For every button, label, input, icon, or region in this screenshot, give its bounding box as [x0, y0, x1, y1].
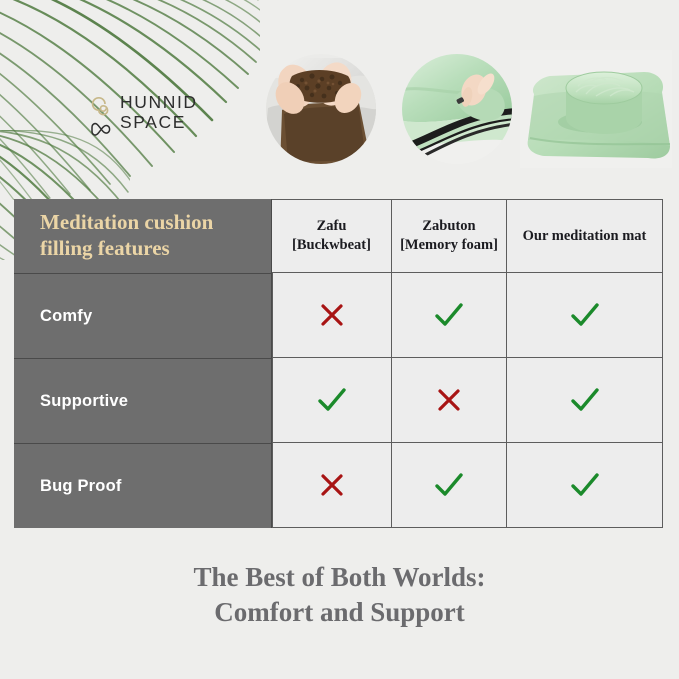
brand-logo: HUNNID SPACE [88, 93, 198, 138]
column-header-our-mat-line-1: Our meditation mat [523, 227, 647, 246]
row-label-supportive: Supportive [14, 358, 272, 443]
tagline-line-1: The Best of Both Worlds: [0, 560, 679, 595]
row-label-supportive-text: Supportive [40, 392, 128, 411]
check-icon [568, 383, 602, 417]
column-header-zabuton-line-1: Zabuton [400, 217, 498, 236]
cross-icon [315, 298, 349, 332]
row-label-comfy: Comfy [14, 273, 272, 358]
cell-supportive-zafu [272, 358, 392, 443]
row-label-bug-proof-text: Bug Proof [40, 477, 122, 496]
column-header-zafu-line-1: Zafu [292, 217, 371, 236]
row-label-comfy-text: Comfy [40, 307, 92, 326]
cell-comfy-zafu [272, 273, 392, 358]
cell-bug-proof-our-mat [507, 443, 663, 528]
table-title-line-1: Meditation cushion [40, 210, 213, 236]
column-header-zafu-line-2: [Buckwbeat] [292, 236, 371, 255]
logo-line-1: HUNNID [120, 93, 198, 113]
logo-line-2: SPACE [120, 113, 198, 133]
infographic-canvas: HUNNID SPACE [0, 0, 679, 679]
check-icon [315, 383, 349, 417]
zipper-cover-photo [398, 50, 516, 168]
check-icon [568, 298, 602, 332]
column-header-zafu: Zafu [Buckwbeat] [272, 199, 392, 273]
buckwheat-hulls-in-hands-photo [262, 50, 380, 168]
table-title-cell: Meditation cushion filling features [14, 199, 272, 273]
cell-comfy-zabuton [392, 273, 507, 358]
check-icon [432, 298, 466, 332]
column-header-zabuton: Zabuton [Memory foam] [392, 199, 507, 273]
cell-supportive-zabuton [392, 358, 507, 443]
cell-bug-proof-zabuton [392, 443, 507, 528]
spiral-infinity-icon [88, 96, 114, 138]
cell-bug-proof-zafu [272, 443, 392, 528]
cross-icon [432, 383, 466, 417]
cell-supportive-our-mat [507, 358, 663, 443]
check-icon [568, 468, 602, 502]
tagline: The Best of Both Worlds: Comfort and Sup… [0, 560, 679, 629]
check-icon [432, 468, 466, 502]
product-photo-strip [262, 50, 672, 170]
zafu-on-zabuton-photo [520, 50, 672, 168]
table-title-line-2: filling features [40, 236, 213, 262]
tagline-line-2: Comfort and Support [0, 595, 679, 630]
cross-icon [315, 468, 349, 502]
column-header-our-mat: Our meditation mat [507, 199, 663, 273]
column-header-zabuton-line-2: [Memory foam] [400, 236, 498, 255]
row-label-bug-proof: Bug Proof [14, 443, 272, 528]
comparison-table: Meditation cushion filling features Zafu… [14, 199, 663, 528]
cell-comfy-our-mat [507, 273, 663, 358]
